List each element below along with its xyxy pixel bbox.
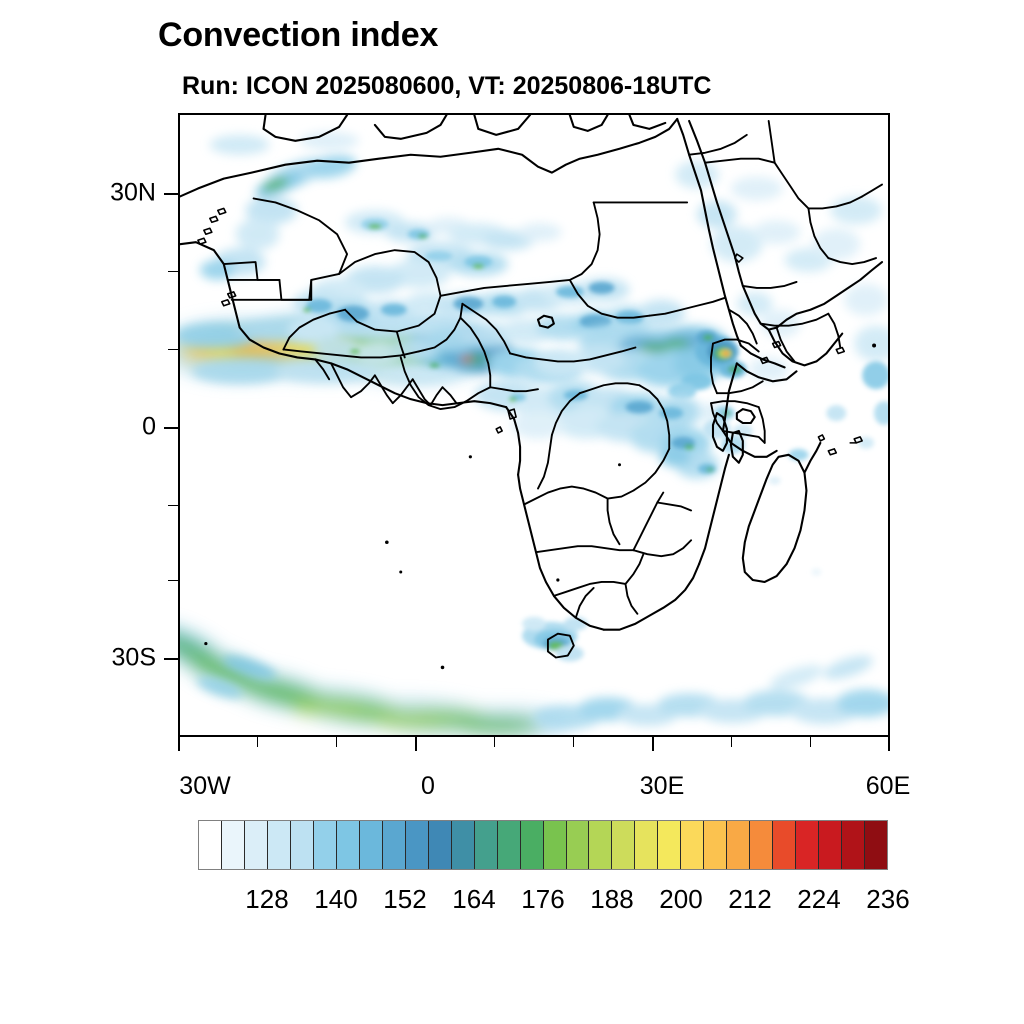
convection-index-map [180,115,888,735]
colorbar-cell [337,821,360,869]
y-tick-10n-minor [168,349,178,350]
x-tick-50e-minor [810,737,811,747]
x-tick-20w-minor [257,737,258,747]
colorbar-tick-label: 200 [659,884,702,915]
x-tick-20e-minor [573,737,574,747]
x-axis-label-30w: 30W [179,772,230,801]
x-tick-0 [415,737,417,751]
colorbar-cell [498,821,521,869]
colorbar-cell [521,821,544,869]
x-axis-label-0: 0 [421,772,435,801]
y-axis-label-30n: 30N [60,179,156,208]
colorbar-cell [681,821,704,869]
x-axis-label-60e: 60E [866,772,910,801]
y-tick-30n [164,193,178,195]
y-axis-label-0: 0 [60,413,156,442]
colorbar-tick-label: 164 [452,884,495,915]
map-plot-area[interactable] [178,113,890,737]
colorbar-cell [245,821,268,869]
colorbar-cell [222,821,245,869]
colorbar-cell [750,821,773,869]
colorbar-cell [199,821,222,869]
y-tick-30s [164,658,178,660]
run-valid-time-subtitle: Run: ICON 2025080600, VT: 20250806-18UTC [182,72,711,101]
y-tick-10s-minor [168,505,178,506]
colorbar-tick-label: 152 [383,884,426,915]
x-tick-10e-minor [494,737,495,747]
colorbar-cell [704,821,727,869]
colorbar-cell [268,821,291,869]
colorbar-tick-label: 236 [866,884,909,915]
colorbar-cell [475,821,498,869]
colorbar-tick-label: 176 [521,884,564,915]
colorbar-tick-label: 140 [314,884,357,915]
colorbar-cell [567,821,590,869]
colorbar-cell [727,821,750,869]
colorbar-tick-label: 128 [245,884,288,915]
colorbar-cell [452,821,475,869]
colorbar-cell [314,821,337,869]
x-tick-60e [888,737,890,751]
colorbar-tick-label: 224 [797,884,840,915]
y-axis-label-30s: 30S [60,644,156,673]
colorbar-tick-label: 212 [728,884,771,915]
x-axis-label-30e: 30E [640,772,684,801]
colorbar-cell [842,821,865,869]
colorbar-cell [773,821,796,869]
colorbar-cell [429,821,452,869]
colorbar-cell [406,821,429,869]
colorbar-cell [383,821,406,869]
colorbar-cell [819,821,842,869]
colorbar-cell [796,821,819,869]
colorbar-cell [291,821,314,869]
y-tick-20s-minor [168,580,178,581]
y-tick-20n-minor [168,271,178,272]
x-tick-30e [652,737,654,751]
y-tick-0 [164,427,178,429]
colorbar-tick-label: 188 [590,884,633,915]
colorbar-cell [544,821,567,869]
colorbar-cell [635,821,658,869]
colorbar-cell [589,821,612,869]
page-title: Convection index [158,16,438,55]
colorbar-tick-labels: 128140152164176188200212224236 [0,884,1024,918]
colorbar-cell [865,821,887,869]
x-tick-10w-minor [336,737,337,747]
colorbar-cell [360,821,383,869]
colorbar-cell [612,821,635,869]
colorbar[interactable] [198,820,888,870]
x-tick-30w [178,737,180,751]
x-tick-40e-minor [731,737,732,747]
colorbar-cell [658,821,681,869]
